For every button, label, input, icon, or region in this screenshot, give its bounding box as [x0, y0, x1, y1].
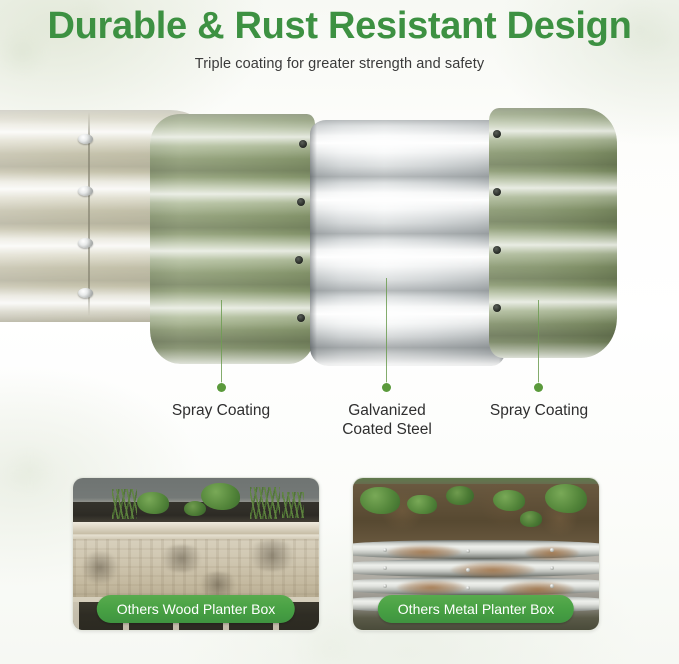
screw-icon: [78, 134, 93, 144]
page-subtitle: Triple coating for greater strength and …: [0, 56, 679, 72]
callout-leader-line: [386, 278, 387, 385]
plant-leaf: [360, 487, 399, 514]
rust-stain: [397, 580, 466, 595]
wood-weather-stain: [80, 551, 119, 584]
corrugation-ribs-green-right: [489, 108, 617, 358]
heading-block: Durable & Rust Resistant Design Triple c…: [0, 6, 679, 72]
steel-cut-edge-left: [310, 120, 317, 366]
bolt-hole-icon: [493, 188, 501, 196]
rivet-icon: [383, 566, 387, 570]
screw-icon: [78, 186, 93, 196]
callout-leader-line: [221, 300, 222, 385]
wood-weather-stain: [245, 540, 299, 570]
bolt-hole-icon: [297, 314, 305, 322]
corrugated-band: [0, 104, 679, 372]
plant-sprout: [184, 501, 206, 516]
page-title: Durable & Rust Resistant Design: [0, 6, 679, 47]
corrugation-ribs-steel: [310, 120, 506, 366]
plant-grass: [282, 492, 304, 518]
badge-others-metal-planter-box: Others Metal Planter Box: [378, 595, 574, 623]
plant-grass: [250, 487, 280, 519]
badge-others-wood-planter-box: Others Wood Planter Box: [97, 595, 295, 623]
plant-leaf: [407, 495, 437, 515]
rust-stain: [387, 545, 461, 559]
comparison-card-metal[interactable]: Others Metal Planter Box: [352, 477, 600, 631]
callout-dot-icon: [217, 383, 226, 392]
bolt-hole-icon: [299, 140, 307, 148]
plant-basil: [201, 483, 240, 510]
wood-weather-stain: [196, 572, 240, 596]
wood-weather-stain: [157, 545, 206, 572]
screw-icon: [78, 238, 93, 248]
bolt-hole-icon: [493, 304, 501, 312]
product-infographic: Durable & Rust Resistant Design Triple c…: [0, 0, 679, 664]
panel-segment-spray-coating-inner: [489, 108, 617, 358]
plant-grass: [112, 489, 137, 519]
rivet-icon: [383, 548, 387, 552]
plant-leaf: [545, 484, 587, 513]
panel-diagram: [0, 96, 679, 386]
wood-photo-top-rail: [73, 522, 319, 534]
callout-label: Spray Coating: [141, 402, 301, 421]
screw-icon: [78, 288, 93, 298]
callout-label: Spray Coating: [459, 402, 619, 421]
rivet-icon: [550, 566, 554, 570]
panel-segment-galvanized-steel: [310, 120, 506, 366]
panel-segment-spray-coating-outer: [150, 114, 315, 364]
bolt-hole-icon: [295, 256, 303, 264]
plant-sprout: [446, 486, 473, 506]
rivet-icon: [383, 584, 387, 588]
rivet-icon: [550, 548, 554, 552]
bolt-hole-icon: [297, 198, 305, 206]
corrugation-ribs-green-left: [150, 114, 315, 364]
plant-basil: [137, 492, 169, 515]
bolt-hole-icon: [493, 246, 501, 254]
rivet-icon: [466, 568, 470, 572]
callout-label: Galvanized Coated Steel: [306, 402, 468, 440]
callout-dot-icon: [382, 383, 391, 392]
callout-dot-icon: [534, 383, 543, 392]
comparison-card-wood[interactable]: Others Wood Planter Box: [72, 477, 320, 631]
rust-stain: [451, 562, 535, 579]
callout-leader-line: [538, 300, 539, 385]
plant-leaf: [493, 490, 525, 511]
plant-sprout: [520, 511, 542, 526]
bolt-hole-icon: [493, 130, 501, 138]
